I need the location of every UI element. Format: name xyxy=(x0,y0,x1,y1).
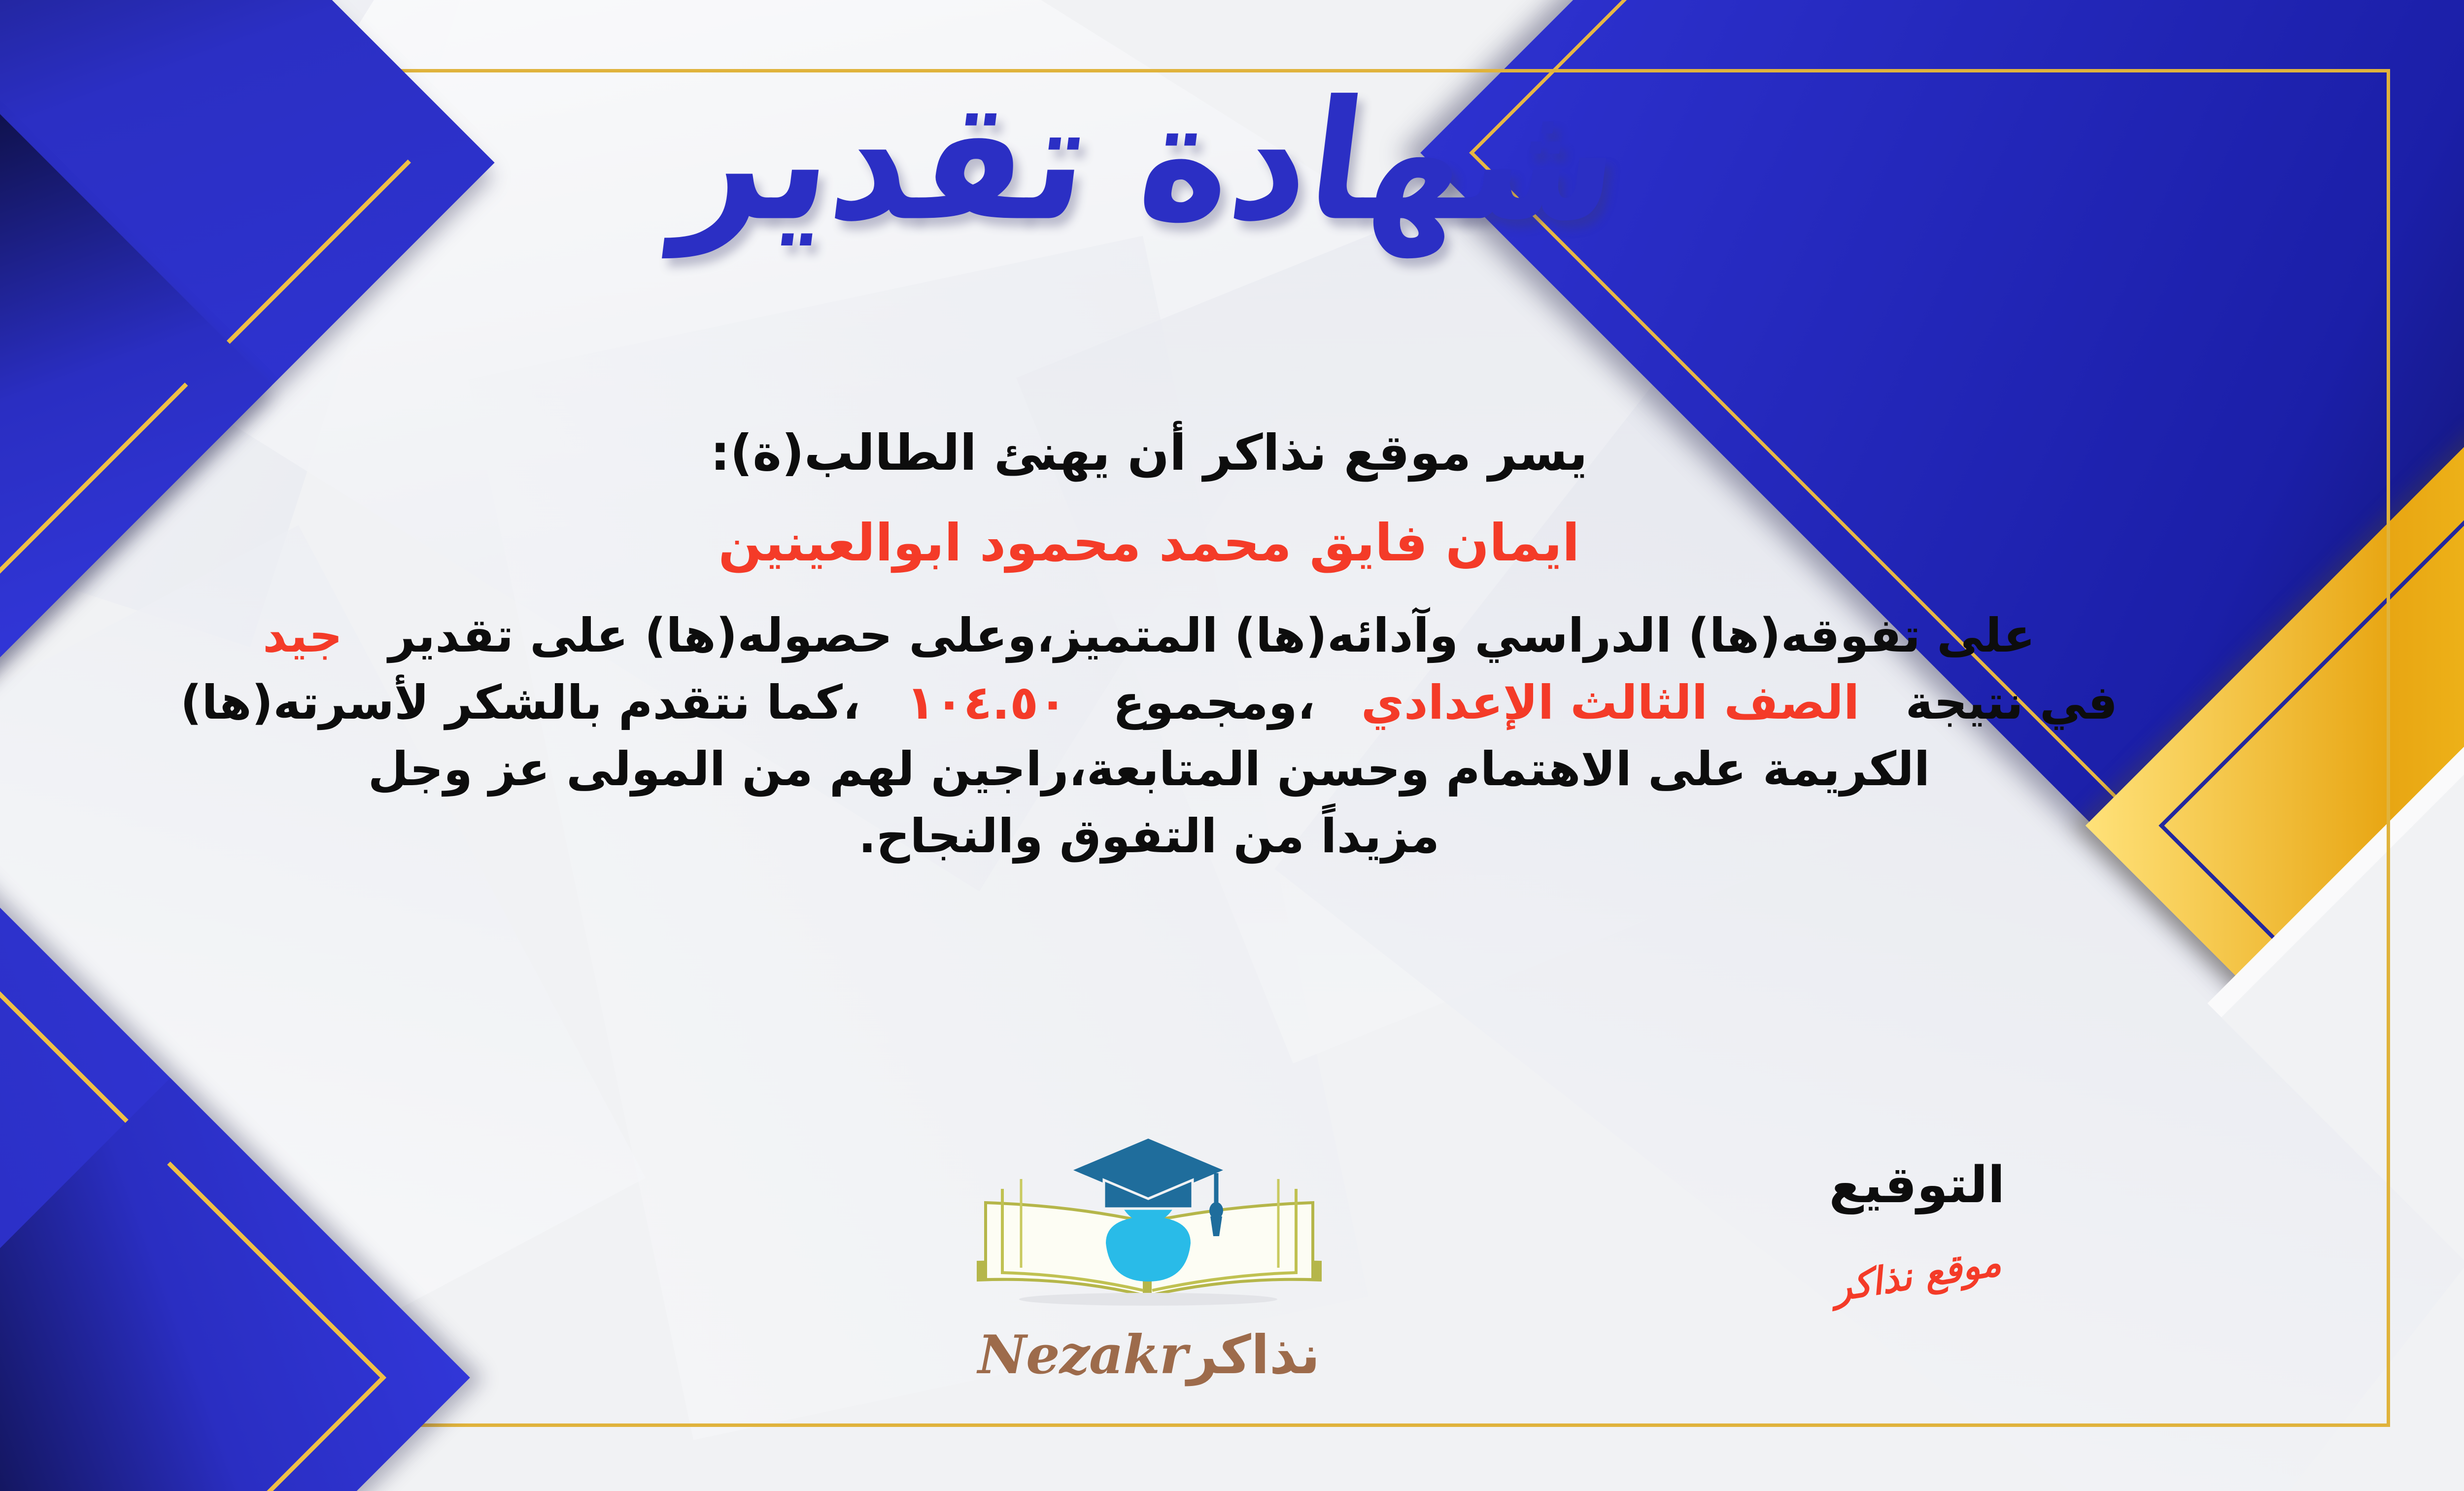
certificate-body: يسر موقع نذاكر أن يهنئ الطالب(ة): ايمان … xyxy=(0,421,2301,867)
title-text: شهادة تقدير xyxy=(668,67,1630,257)
closing-wish-line: مزيداً من التفوق والنجاح. xyxy=(0,807,2301,867)
stage-value: الصف الثالث الإعدادي xyxy=(1361,676,1860,730)
logo-wordmark: نذاكرNezakr xyxy=(947,1324,1351,1386)
certificate-title: شهادة تقدير xyxy=(0,74,2464,250)
intro-line: يسر موقع نذاكر أن يهنئ الطالب(ة): xyxy=(0,421,2301,485)
certificate-page: شهادة تقدير يسر موقع نذاكر أن يهنئ الطال… xyxy=(0,0,2464,1491)
corner-ornament-bottom-left xyxy=(0,855,470,1491)
logo-wordmark-arabic: نذاكر xyxy=(1187,1324,1320,1386)
family-thanks-line: الكريمة على الاهتمام وحسن المتابعة،راجين… xyxy=(0,740,2301,800)
logo-artwork xyxy=(947,1134,1351,1331)
site-logo: نذاكرNezakr xyxy=(947,1134,1351,1386)
grade-value: جيد xyxy=(263,609,342,663)
blue-chevron-shape xyxy=(0,855,470,1491)
stage-and-score-line: في نتيجة الصف الثالث الإعدادي ،ومجموع ١٠… xyxy=(0,673,2301,733)
student-name: ايمان فايق محمد محمود ابوالعينين xyxy=(0,510,2301,576)
blue-chevron-inner-shape xyxy=(0,1078,470,1491)
logo-wordmark-latin: Nezakr xyxy=(978,1324,1187,1386)
gold-accent-line xyxy=(0,938,386,1491)
thanks-text: ،كما نتقدم بالشكر لأسرته(ها) xyxy=(180,676,860,730)
gold-accent-line-inner xyxy=(0,1162,386,1491)
achievement-line: على تفوقه(ها) الدراسي وآدائه(ها) المتميز… xyxy=(0,606,2301,666)
signature-area: التوقيع موقع نذاكر xyxy=(1779,1156,2055,1297)
signature-label: التوقيع xyxy=(1779,1156,2055,1214)
achievement-text: على تفوقه(ها) الدراسي وآدائه(ها) المتميز… xyxy=(388,609,2035,663)
signature-mark: موقع نذاكر xyxy=(1830,1240,2004,1310)
total-score-value: ١٠٤.٥٠ xyxy=(906,676,1067,730)
total-prefix-text: ،ومجموع xyxy=(1113,676,1315,730)
result-prefix-text: في نتيجة xyxy=(1905,676,2118,730)
